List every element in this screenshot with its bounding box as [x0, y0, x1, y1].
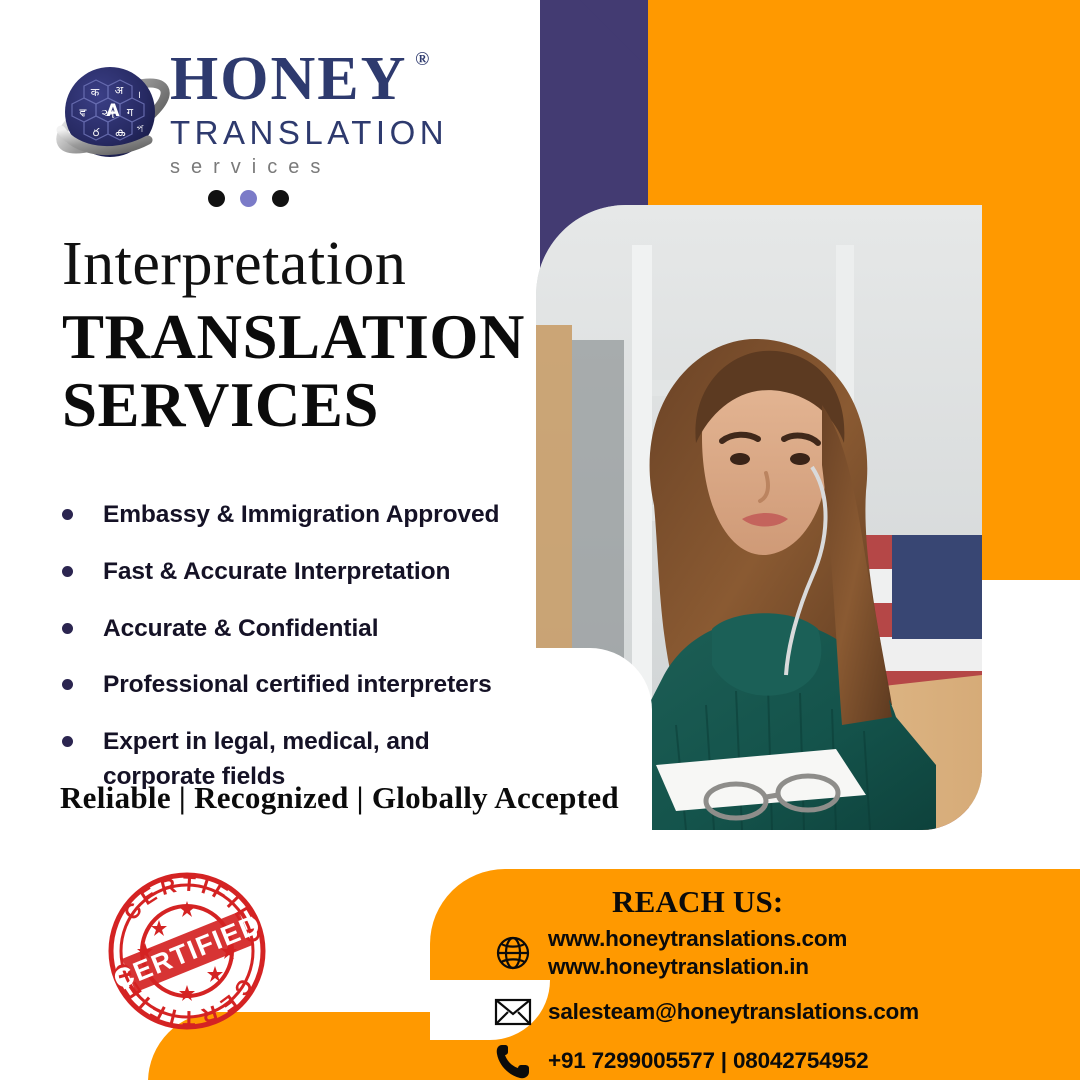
contact-row-email[interactable]: salesteam@honeytranslations.com [492, 997, 1052, 1027]
logo-brand-name: HONEY ® [170, 48, 407, 110]
svg-text:ग: ग [127, 106, 134, 119]
tagline: Reliable | Recognized | Globally Accepte… [60, 780, 619, 816]
decorative-dots [208, 190, 289, 207]
website-link-in[interactable]: www.honeytranslation.in [548, 953, 847, 981]
dot-3-icon [272, 190, 289, 207]
website-links[interactable]: www.honeytranslations.com www.honeytrans… [548, 925, 847, 981]
globe-languages-icon: क अ । ਵ અ ग ర ക প A [52, 54, 174, 176]
page-title: Interpretation TRANSLATION SERVICES [62, 232, 532, 439]
globe-icon [492, 934, 534, 972]
feature-list: Embassy & Immigration Approved Fast & Ac… [56, 498, 526, 817]
poster-canvas: क अ । ਵ અ ग ర ക প A HONEY ® [0, 0, 1080, 1080]
contact-row-phone[interactable]: +91 7299005577 | 08042754952 [492, 1043, 1052, 1079]
bullet-dot-icon [62, 679, 73, 690]
list-item: Accurate & Confidential [56, 612, 526, 647]
bullet-dot-icon [62, 736, 73, 747]
website-link-com[interactable]: www.honeytranslations.com [548, 925, 847, 953]
logo-line-translation: TRANSLATION [170, 112, 470, 153]
bullet-dot-icon [62, 566, 73, 577]
svg-text:ക: ക [115, 126, 126, 139]
reach-us-heading: REACH US: [612, 884, 783, 920]
svg-text:প: প [137, 124, 144, 135]
logo-line-services: services [170, 156, 470, 179]
svg-text:।: । [137, 90, 141, 101]
logo-brand-text: HONEY [170, 45, 407, 113]
headline-line-translation: TRANSLATION [62, 303, 532, 371]
list-item-label: Professional certified interpreters [103, 668, 492, 703]
list-item: Professional certified interpreters [56, 668, 526, 703]
headline-bold-lines: TRANSLATION SERVICES [62, 303, 532, 439]
logo-wordmark: HONEY ® TRANSLATION services [170, 48, 470, 179]
envelope-icon [492, 997, 534, 1027]
contact-list: www.honeytranslations.com www.honeytrans… [492, 925, 1052, 1080]
svg-text:ర: ర [93, 126, 100, 139]
svg-text:क: क [91, 86, 100, 99]
list-item-label: Accurate & Confidential [103, 612, 378, 647]
svg-text:अ: अ [115, 84, 124, 97]
registered-trademark-icon: ® [415, 50, 431, 69]
certified-stamp-icon: CERTIFIED CERTIFIED CERTIFIED [104, 868, 270, 1034]
list-item-label: Embassy & Immigration Approved [103, 498, 499, 533]
bullet-dot-icon [62, 623, 73, 634]
phone-numbers[interactable]: +91 7299005577 | 08042754952 [548, 1047, 868, 1075]
svg-text:ਵ: ਵ [79, 106, 88, 119]
contact-row-website[interactable]: www.honeytranslations.com www.honeytrans… [492, 925, 1052, 981]
dot-2-icon [240, 190, 257, 207]
list-item: Fast & Accurate Interpretation [56, 555, 526, 590]
phone-icon [492, 1043, 534, 1079]
headline-line-services: SERVICES [62, 371, 532, 439]
dot-1-icon [208, 190, 225, 207]
list-item-label: Fast & Accurate Interpretation [103, 555, 450, 590]
svg-text:A: A [106, 101, 120, 121]
list-item: Embassy & Immigration Approved [56, 498, 526, 533]
email-address[interactable]: salesteam@honeytranslations.com [548, 998, 919, 1026]
headline-script-line: Interpretation [62, 232, 532, 297]
bullet-dot-icon [62, 509, 73, 520]
